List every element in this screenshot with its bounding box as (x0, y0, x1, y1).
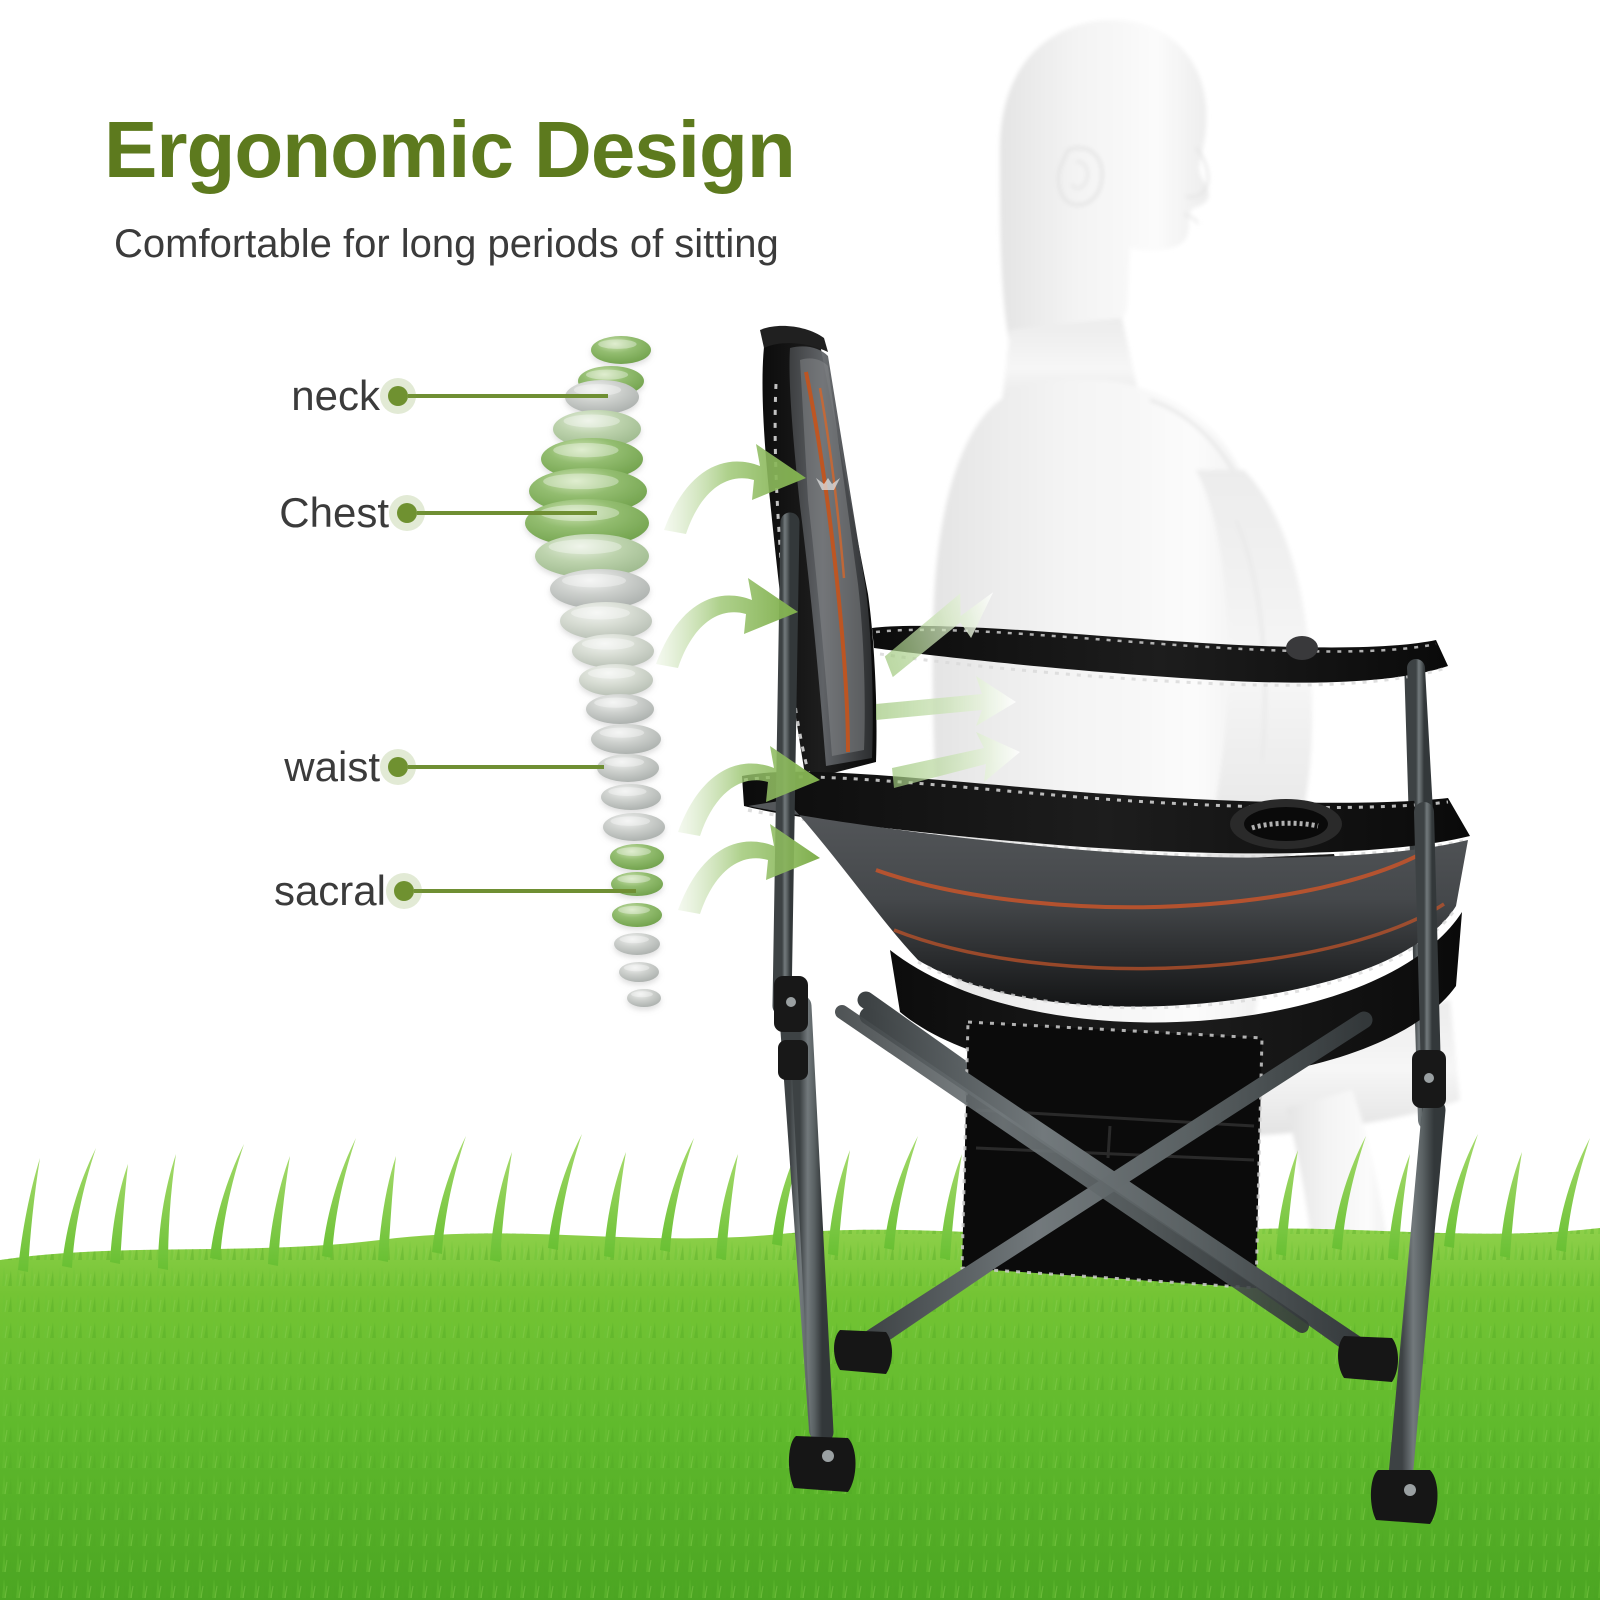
infographic-page: Ergonomic Design Comfortable for long pe… (0, 0, 1600, 1600)
callout-connector-line (408, 394, 608, 398)
green-curved-arrow (656, 444, 820, 914)
callout-connector-line (414, 889, 636, 893)
callout-connector-line (417, 511, 597, 515)
callout-label: waist (284, 743, 380, 791)
callout-dot[interactable] (389, 495, 425, 531)
callout-label: neck (291, 372, 380, 420)
page-title: Ergonomic Design (104, 104, 795, 196)
callout-dot[interactable] (380, 749, 416, 785)
callout-label: Chest (279, 489, 389, 537)
callout-dot[interactable] (380, 378, 416, 414)
lumbar-support-arrow (874, 584, 1020, 788)
callout-connector-line (408, 765, 604, 769)
callout-dot[interactable] (386, 873, 422, 909)
page-subtitle: Comfortable for long periods of sitting (114, 222, 779, 267)
callout-label: sacral (274, 867, 386, 915)
